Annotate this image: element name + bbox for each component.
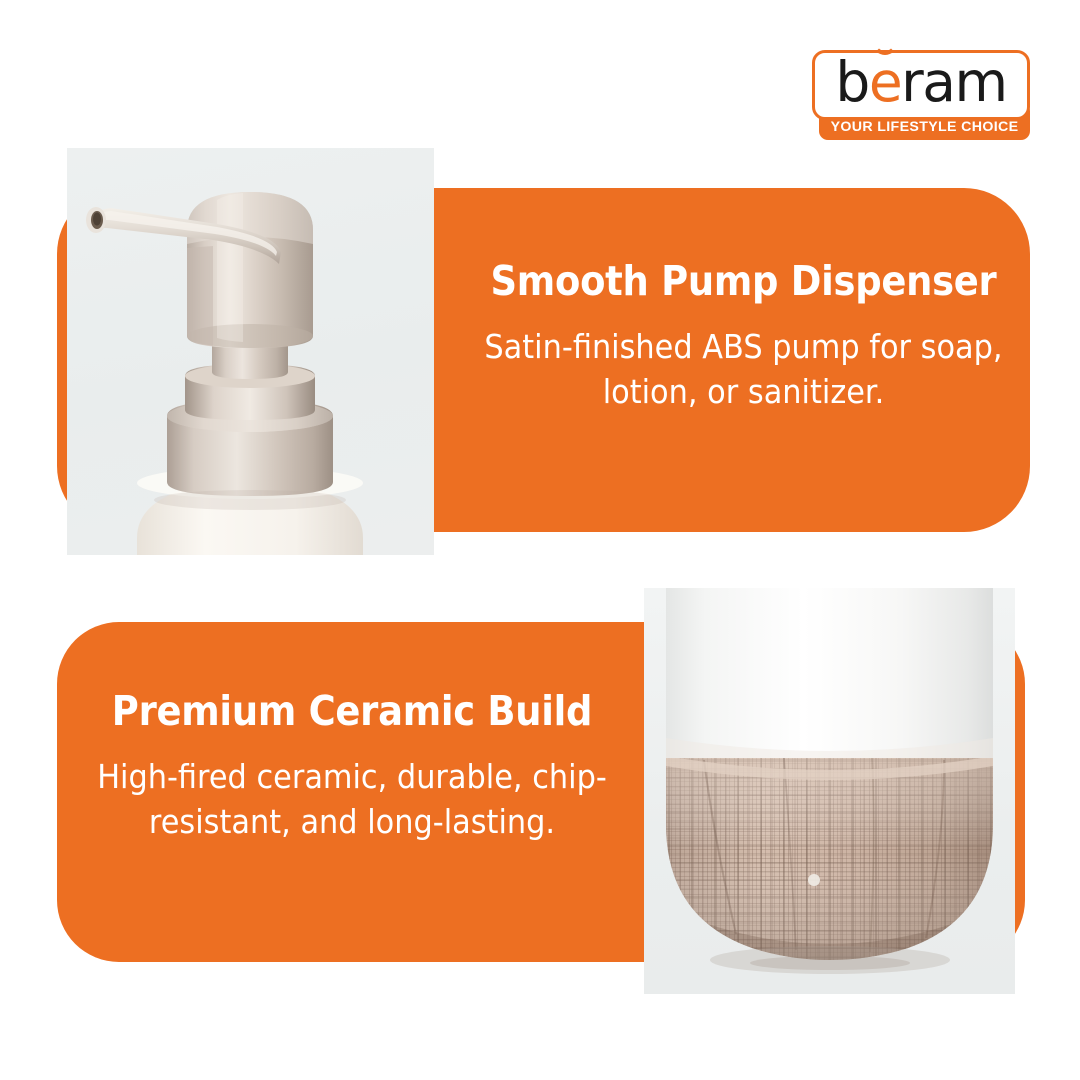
ceramic-bottle-illustration xyxy=(644,588,1015,994)
logo-wordmark-accent-letter: e xyxy=(869,55,901,110)
feature-1-title: Smooth Pump Dispenser xyxy=(486,260,1002,303)
logo-wordmark-accent-char: e xyxy=(869,50,901,114)
logo-wordmark-part2: ram xyxy=(901,50,1006,114)
feature-1-description: Satin-finished ABS pump for soap, lotion… xyxy=(480,325,1007,414)
product-image-pump-head xyxy=(67,148,434,555)
feature-card-pump-dispenser: Smooth Pump Dispenser Satin-finished ABS… xyxy=(57,188,1030,532)
pump-dispenser-illustration xyxy=(67,148,434,555)
feature-2-description: High-fired ceramic, durable, chip-resist… xyxy=(90,755,614,844)
feature-card-1-text-block: Smooth Pump Dispenser Satin-finished ABS… xyxy=(457,260,1030,414)
logo-wordmark: beram xyxy=(835,55,1006,110)
feature-2-title: Premium Ceramic Build xyxy=(96,690,609,733)
brand-logo: YOUR LIFESTYLE CHOICE beram xyxy=(812,50,1030,142)
feature-card-ceramic-build: Premium Ceramic Build High-fired ceramic… xyxy=(57,622,1025,962)
product-image-ceramic-base xyxy=(644,588,1015,994)
feature-card-2-text-block: Premium Ceramic Build High-fired ceramic… xyxy=(67,690,637,844)
logo-wordmark-frame: beram xyxy=(812,50,1030,120)
logo-tagline-text: YOUR LIFESTYLE CHOICE xyxy=(831,119,1019,135)
logo-wordmark-part1: b xyxy=(835,50,868,114)
